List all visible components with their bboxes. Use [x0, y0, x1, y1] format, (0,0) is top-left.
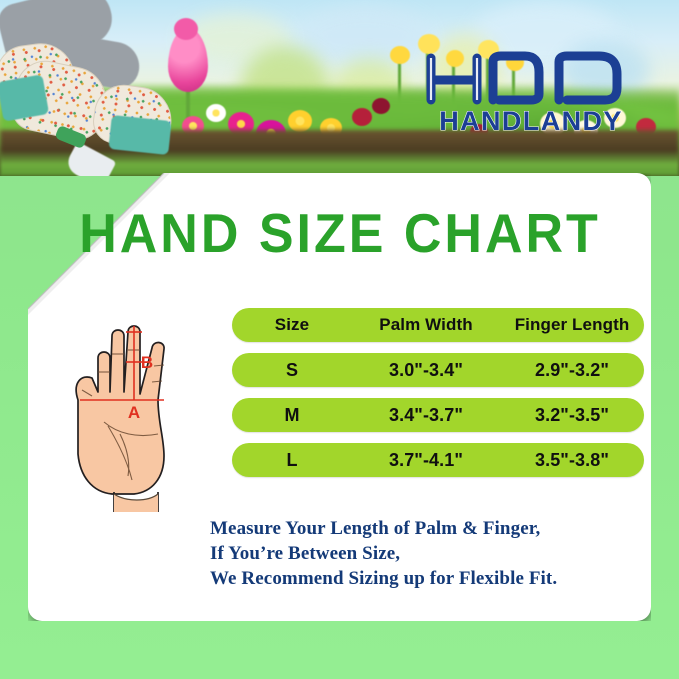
cell-finger-length: 2.9"-3.2"	[500, 360, 644, 381]
cell-size: L	[232, 450, 352, 471]
chart-title-text: HAND SIZE CHART	[80, 203, 600, 264]
cell-finger-length: 3.2"-3.5"	[500, 405, 644, 426]
sizing-note: Measure Your Length of Palm & Finger, If…	[210, 516, 557, 591]
table-row: S 3.0"-3.4" 2.9"-3.2"	[232, 353, 644, 387]
cell-palm-width: 3.4"-3.7"	[352, 405, 500, 426]
table-header-row: Size Palm Width Finger Length	[232, 308, 644, 342]
cell-palm-width: 3.0"-3.4"	[352, 360, 500, 381]
cell-palm-width: 3.7"-4.1"	[352, 450, 500, 471]
logo-wordmark: HANDLANDY	[439, 106, 623, 136]
table-row: L 3.7"-4.1" 3.5"-3.8"	[232, 443, 644, 477]
cell-size: S	[232, 360, 352, 381]
label-b: B	[141, 353, 153, 372]
hand-size-chart-page: HANDLANDY HAND SIZE CHART	[0, 0, 679, 679]
note-line-1: Measure Your Length of Palm & Finger,	[210, 516, 557, 541]
chart-title: HAND SIZE CHART	[0, 203, 679, 270]
header-palm-width: Palm Width	[352, 315, 500, 335]
cell-size: M	[232, 405, 352, 426]
handlandy-logo: HANDLANDY	[421, 44, 641, 136]
note-line-3: We Recommend Sizing up for Flexible Fit.	[210, 566, 557, 591]
header-finger-length: Finger Length	[500, 315, 644, 335]
table-row: M 3.4"-3.7" 3.2"-3.5"	[232, 398, 644, 432]
label-a: A	[128, 403, 140, 422]
note-line-2: If You’re Between Size,	[210, 541, 557, 566]
header-size: Size	[232, 315, 352, 335]
gardener-figure	[0, 0, 207, 176]
hand-measurement-diagram: A B	[42, 296, 224, 512]
size-table: Size Palm Width Finger Length S 3.0"-3.4…	[232, 308, 644, 477]
cell-finger-length: 3.5"-3.8"	[500, 450, 644, 471]
